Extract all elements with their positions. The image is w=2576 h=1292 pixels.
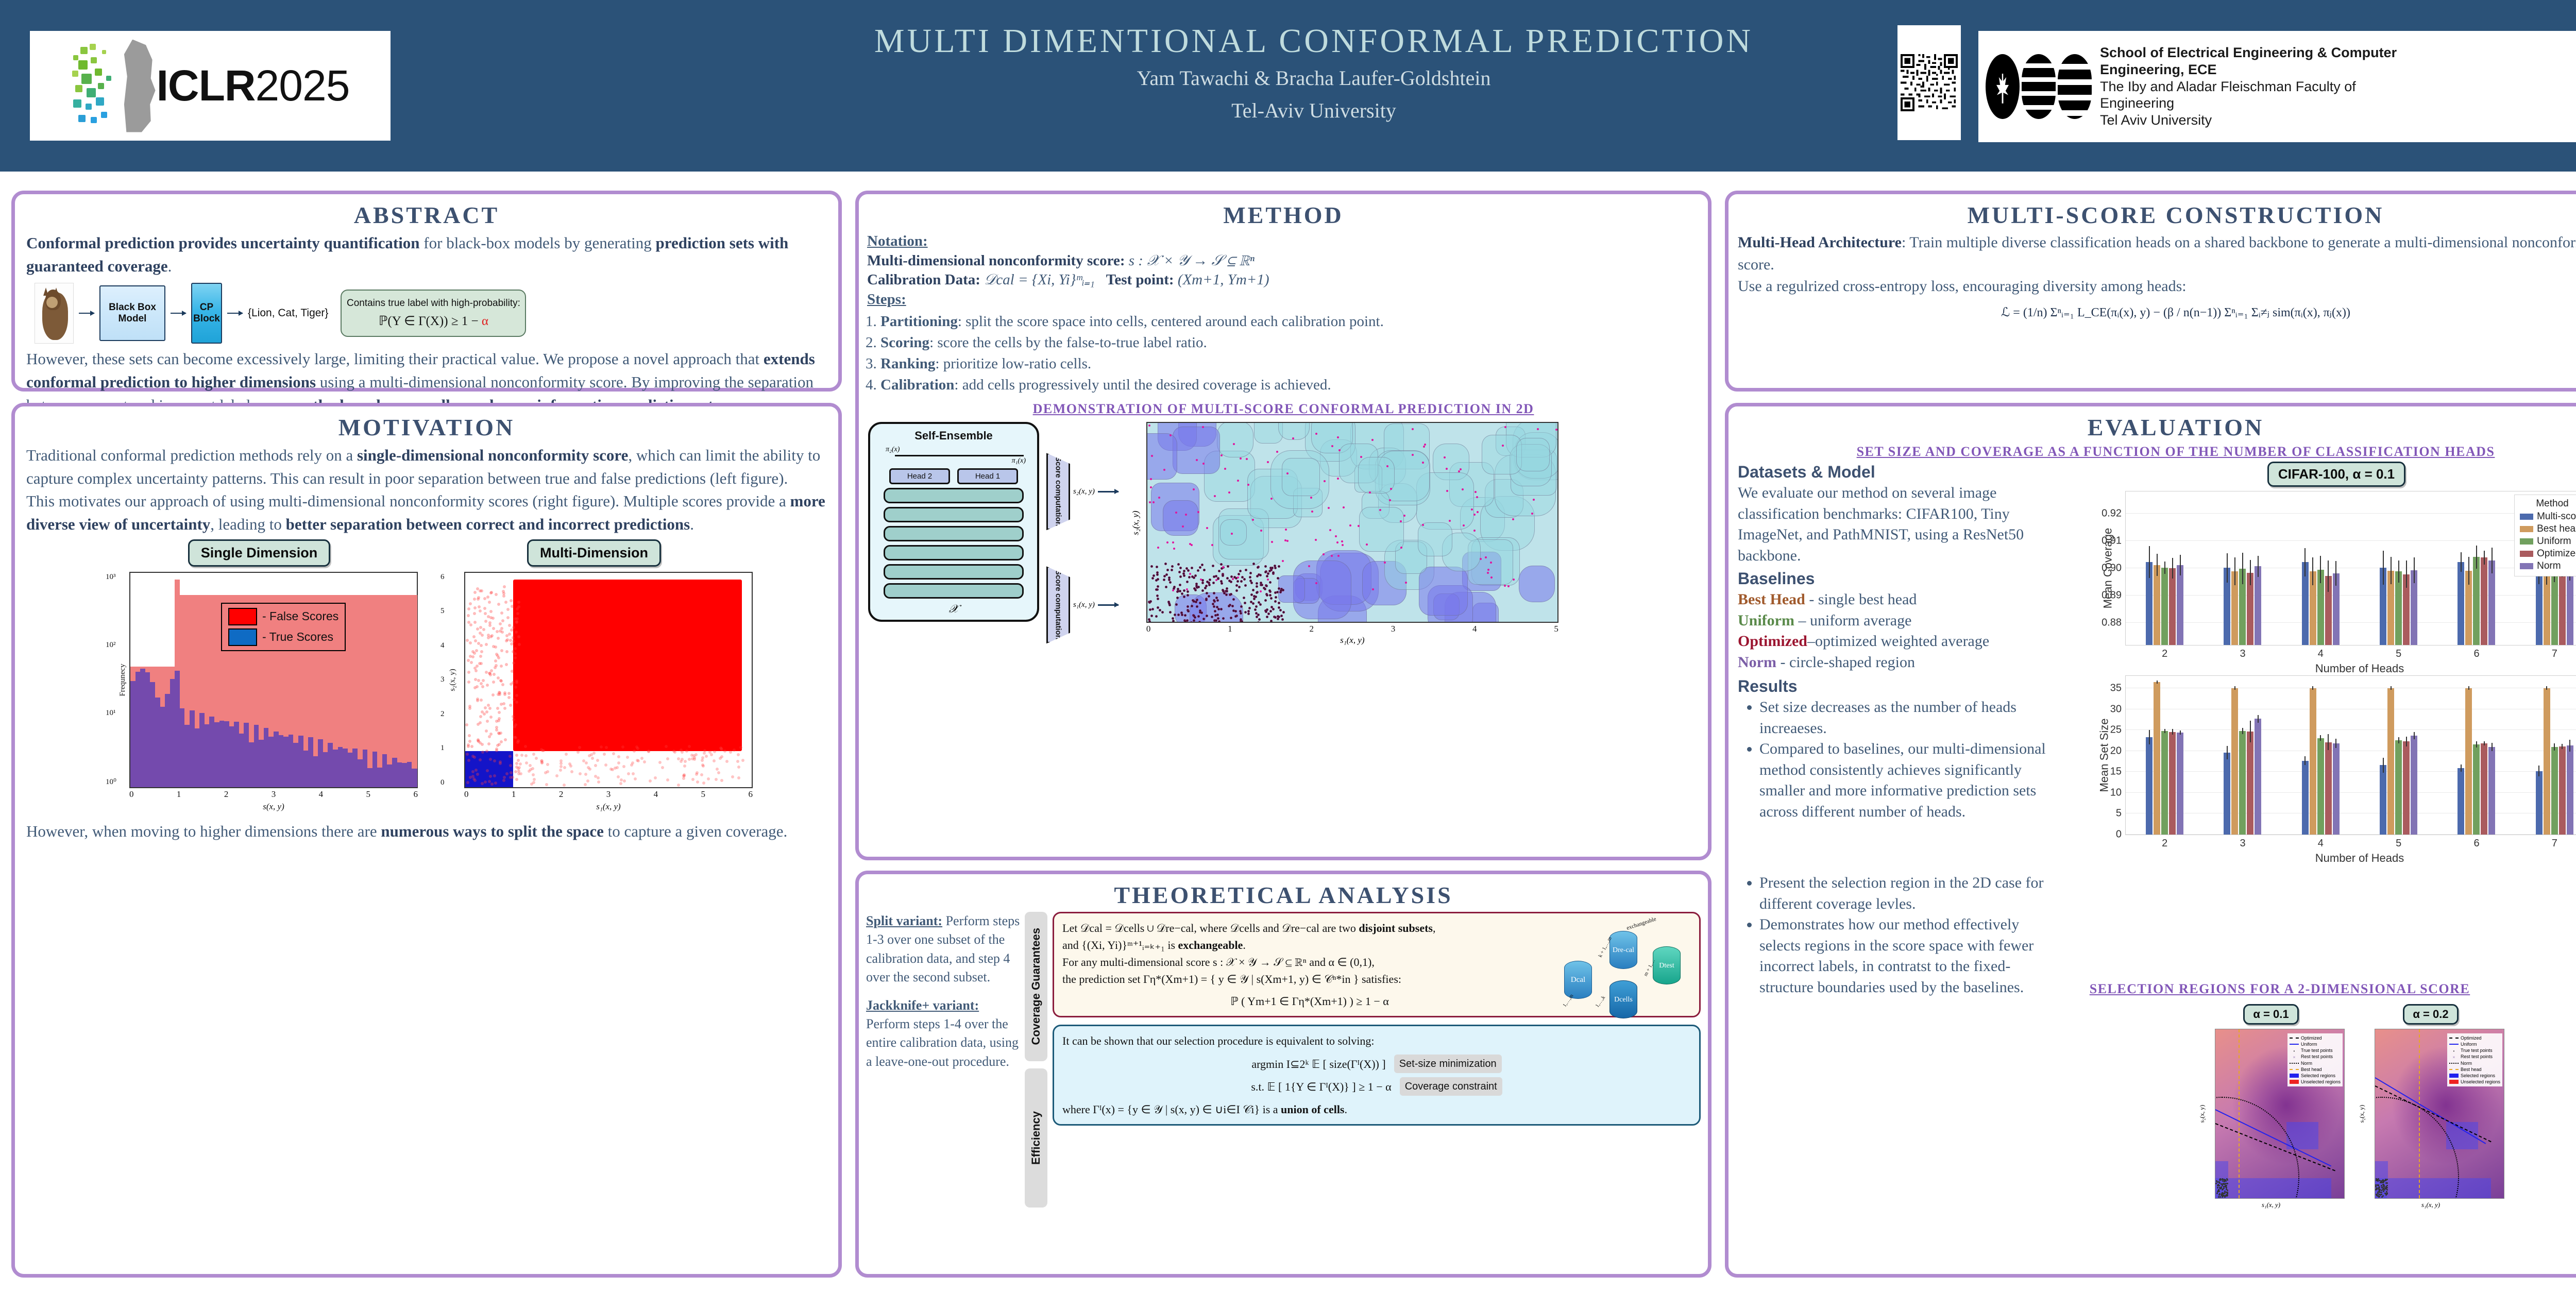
loss-formula: ℒ = (1/n) Σⁿᵢ₌₁ L_CE(πᵢ(x), y) − (β / n(… bbox=[1728, 305, 2576, 320]
scatter-point bbox=[495, 593, 498, 596]
scatter-point bbox=[677, 784, 680, 787]
legend-label-false: - False Scores bbox=[262, 609, 338, 623]
scatter-point bbox=[489, 733, 493, 736]
calibration-point bbox=[1173, 586, 1176, 588]
dataset-badge: CIFAR-100, α = 0.1 bbox=[2267, 462, 2405, 487]
backbone-layer bbox=[884, 488, 1024, 503]
scatter-point bbox=[611, 768, 614, 771]
calibration-point bbox=[1151, 608, 1154, 610]
scatter-point bbox=[701, 763, 704, 767]
scatter-point bbox=[587, 766, 590, 769]
test-point bbox=[1157, 547, 1159, 549]
test-point bbox=[1343, 506, 1345, 508]
calibration-point bbox=[1274, 600, 1277, 603]
scatter-point bbox=[741, 759, 744, 762]
calibration-point bbox=[1150, 565, 1153, 568]
calibration-point bbox=[1172, 620, 1175, 622]
error-bar bbox=[2328, 734, 2329, 750]
calibration-point bbox=[1280, 615, 1283, 617]
scatter-point bbox=[594, 764, 597, 767]
calibration-point bbox=[1156, 573, 1159, 576]
scatter-point bbox=[633, 750, 636, 753]
scatter-point bbox=[479, 609, 482, 613]
scatter-point bbox=[725, 760, 728, 763]
calibration-point bbox=[1240, 612, 1242, 615]
error-bar bbox=[2227, 746, 2228, 759]
x-axis-tick: 7 bbox=[2552, 838, 2557, 849]
legend-swatch bbox=[2449, 1069, 2459, 1070]
chart-legend: MethodMulti-scoreBest headUniformOptimiz… bbox=[2514, 495, 2576, 576]
bar bbox=[2247, 732, 2253, 835]
bar bbox=[2161, 568, 2168, 645]
efficiency-box: It can be shown that our selection proce… bbox=[1053, 1025, 1701, 1126]
calibration-point bbox=[1267, 572, 1269, 575]
calibration-point bbox=[1259, 574, 1262, 576]
scatter-point bbox=[467, 614, 470, 617]
calibration-point bbox=[1276, 591, 1279, 593]
calibration-point bbox=[1159, 609, 1161, 611]
test-point bbox=[1186, 588, 1188, 590]
input-label: 𝒳 bbox=[876, 602, 1031, 616]
calibration-point bbox=[1202, 618, 1205, 620]
sy2: 2 bbox=[440, 710, 445, 719]
error-bar bbox=[2484, 741, 2485, 745]
scatter-point bbox=[515, 762, 518, 765]
scatter-x-ticks: 0 1 2 3 4 5 6 bbox=[464, 789, 753, 800]
scatter-point bbox=[477, 596, 480, 599]
calibration-point bbox=[1226, 587, 1228, 590]
scatter-point bbox=[702, 781, 705, 785]
hist-bar-true bbox=[412, 769, 417, 787]
test-point bbox=[1148, 424, 1150, 427]
score-label: Multi-dimensional nonconformity score: bbox=[867, 252, 1125, 269]
bar bbox=[2567, 567, 2573, 645]
arrow-icon-s1 bbox=[1098, 604, 1118, 606]
hx2: 2 bbox=[224, 789, 229, 800]
scatter-point bbox=[488, 601, 491, 604]
bar bbox=[2302, 761, 2309, 835]
scatter-point bbox=[570, 770, 573, 773]
scatter-point bbox=[510, 642, 513, 645]
legend-item: Best head bbox=[2449, 1066, 2500, 1073]
baseline-2-name: Optimized bbox=[1738, 633, 1807, 650]
baseline-optimized: Optimized–optimized weighted average bbox=[1738, 631, 2052, 652]
legend-label: Rest test points bbox=[2461, 1053, 2493, 1060]
scatter-point bbox=[713, 750, 716, 753]
scatter-point bbox=[565, 753, 568, 756]
bar bbox=[2465, 571, 2472, 645]
legend-item: Unselected regions bbox=[2290, 1079, 2341, 1085]
calibration-point bbox=[1220, 563, 1223, 566]
legend-swatch bbox=[2290, 1074, 2299, 1078]
sy6: 6 bbox=[440, 573, 445, 582]
cov-l1-b: disjoint subsets bbox=[1359, 922, 1433, 934]
scatter-point bbox=[514, 770, 517, 773]
split-variant: Split variant: Perform steps 1-3 over on… bbox=[866, 912, 1021, 987]
test-point bbox=[1276, 451, 1278, 453]
scatter-point bbox=[468, 740, 471, 743]
scatter-point bbox=[512, 718, 515, 721]
error-bar bbox=[2569, 740, 2570, 752]
bar bbox=[2255, 719, 2261, 835]
x-axis-tick: 6 bbox=[2473, 648, 2479, 660]
scatter-point bbox=[484, 706, 487, 709]
scatter-point bbox=[555, 774, 558, 777]
calibration-point bbox=[1278, 565, 1280, 568]
scatter-point bbox=[490, 669, 493, 672]
cov-line-1: Let 𝒟cal = 𝒟cells ∪ 𝒟re−cal, where 𝒟cell… bbox=[1062, 920, 1557, 937]
x-axis-tick: 4 bbox=[2318, 838, 2324, 849]
bar bbox=[2567, 745, 2573, 835]
calibration-point bbox=[1256, 591, 1258, 594]
eff-line-2: argmin I⊆2ᵏ 𝔼 [ size(Γᴵ(X)) ] bbox=[1251, 1056, 1385, 1073]
calibration-point bbox=[1256, 582, 1258, 585]
legend-swatch: × bbox=[2290, 1055, 2299, 1058]
selection-plot-2: OptimizedUniform•True test points×Rest t… bbox=[2375, 1029, 2504, 1199]
arrow-icon-3 bbox=[227, 313, 243, 314]
test-math: (Xm+1, Ym+1) bbox=[1178, 271, 1269, 288]
tau-line-2: Engineering, ECE bbox=[2100, 61, 2397, 78]
results-heading: Results bbox=[1738, 677, 2052, 696]
affiliation: Tel-Aviv University bbox=[721, 98, 1906, 123]
scatter-point bbox=[563, 784, 566, 787]
voronoi-cell bbox=[1163, 500, 1198, 536]
selection-plot-1: OptimizedUniform•True test points×Rest t… bbox=[2215, 1029, 2345, 1199]
test-point bbox=[1412, 428, 1414, 430]
arrow-icon-1 bbox=[79, 313, 94, 314]
scatter-point bbox=[469, 623, 472, 626]
error-bar bbox=[2492, 548, 2493, 573]
legend-item: Norm bbox=[2449, 1060, 2500, 1066]
calibration-point bbox=[1226, 577, 1229, 580]
scatter-point bbox=[500, 649, 503, 652]
error-bar bbox=[2180, 730, 2181, 735]
scatter-point bbox=[484, 780, 487, 784]
step-4-name: Calibration bbox=[880, 377, 954, 393]
calibration-point bbox=[1254, 608, 1257, 611]
scatter-point bbox=[517, 759, 520, 762]
y-axis-tick: 20 bbox=[2110, 745, 2122, 757]
vx2: 2 bbox=[1309, 624, 1314, 634]
error-bar bbox=[2172, 558, 2173, 579]
bar bbox=[2411, 570, 2417, 645]
method-step-4: Calibration: add cells progressively unt… bbox=[880, 375, 1708, 395]
scatter-point bbox=[503, 693, 506, 696]
legend-swatch bbox=[2449, 1080, 2459, 1084]
bar bbox=[2551, 747, 2558, 835]
test-point bbox=[1335, 535, 1337, 537]
scatter-point bbox=[603, 753, 606, 756]
scatter-point bbox=[477, 679, 480, 682]
legend-label: Norm bbox=[2537, 560, 2561, 572]
bar bbox=[2161, 731, 2168, 835]
mot-p2-a: This motivates our approach of using mul… bbox=[26, 492, 790, 510]
multi-dimension-figure: Multi-Dimension 6 5 4 3 2 1 0 s₂(x, y) 0… bbox=[435, 539, 753, 812]
step-3-text: : prioritize low-ratio cells. bbox=[935, 355, 1091, 372]
scatter-point bbox=[546, 770, 549, 773]
qr-code-icon[interactable] bbox=[1897, 25, 1961, 140]
scatter-point bbox=[617, 761, 620, 764]
x-axis-tick: 5 bbox=[2396, 648, 2401, 660]
calibration-point bbox=[1175, 603, 1178, 606]
bar-group bbox=[2302, 676, 2340, 835]
coverage-bar-chart: 0.880.890.900.910.92234567MethodMulti-sc… bbox=[2125, 491, 2576, 645]
error-bar bbox=[2383, 758, 2384, 773]
set-size-minimization-tag: Set-size minimization bbox=[1394, 1055, 1502, 1073]
calibration-point bbox=[1178, 571, 1181, 573]
scatter-point bbox=[467, 671, 470, 674]
error-bar bbox=[2227, 553, 2228, 583]
eff-l4-c: . bbox=[1345, 1103, 1348, 1116]
voronoi-cell bbox=[1418, 522, 1452, 557]
theory-title: THEORETICAL ANALYSIS bbox=[859, 881, 1708, 909]
test-point bbox=[1214, 495, 1216, 497]
test-point bbox=[1531, 513, 1533, 515]
sx4: 4 bbox=[654, 789, 658, 800]
error-bar bbox=[2468, 686, 2469, 689]
cov-line-2: and {(Xi, Yi)}ᵐ⁺¹ᵢ₌ₖ₊₁ is exchangeable. bbox=[1062, 937, 1557, 954]
calibration-point bbox=[1226, 590, 1228, 592]
bar bbox=[2239, 731, 2246, 835]
scatter-false-cluster bbox=[513, 580, 742, 751]
scatter-point bbox=[481, 634, 484, 637]
scatter-point bbox=[579, 772, 582, 775]
scatter-point bbox=[480, 650, 483, 653]
bar bbox=[2380, 765, 2386, 835]
calibration-point bbox=[1257, 621, 1260, 623]
calibration-point bbox=[1166, 569, 1169, 571]
calibration-point bbox=[1279, 609, 1282, 611]
selection-region-figures: α = 0.1 s₂(x, y) OptimizedUniform•True t… bbox=[2197, 1004, 2504, 1209]
vx3: 3 bbox=[1391, 624, 1396, 634]
bar bbox=[2488, 560, 2495, 645]
voronoi-x-ticks: 0 1 2 3 4 5 bbox=[1146, 624, 1558, 634]
score-comp-label-1: Score computation bbox=[1054, 570, 1063, 640]
tau-logo-text: School of Electrical Engineering & Compu… bbox=[2100, 44, 2397, 129]
calibration-point bbox=[1230, 593, 1232, 596]
error-bar bbox=[2157, 554, 2158, 576]
cov-l2-a: and {(Xi, Yi)}ᵐ⁺¹ᵢ₌ₖ₊₁ is bbox=[1062, 939, 1178, 951]
scatter-point bbox=[514, 723, 517, 726]
calibration-point bbox=[1174, 614, 1176, 616]
baseline-0-desc: - single best head bbox=[1805, 591, 1917, 608]
scatter-point bbox=[620, 778, 623, 781]
scatter-point bbox=[560, 759, 563, 762]
bar-group bbox=[2458, 676, 2495, 835]
bar-group bbox=[2302, 491, 2340, 645]
legend-label: True test points bbox=[2461, 1047, 2493, 1053]
scatter-point bbox=[546, 763, 549, 766]
datasets-text: We evaluate our method on several image … bbox=[1738, 483, 2052, 566]
calibration-point bbox=[1193, 615, 1195, 617]
selection-bullet: Present the selection region in the 2D c… bbox=[1759, 873, 2052, 914]
baseline-0-name: Best Head bbox=[1738, 591, 1805, 608]
theory-variants: Split variant: Perform steps 1-3 over on… bbox=[866, 912, 1021, 1208]
legend-item: Optimized bbox=[2449, 1035, 2500, 1041]
bar bbox=[2224, 568, 2230, 645]
calibration-point bbox=[1179, 567, 1182, 569]
cyl-exchangeable-label: exchangeable bbox=[1625, 915, 1657, 932]
y-axis-tick: 30 bbox=[2110, 703, 2122, 715]
calibration-point bbox=[1272, 571, 1275, 574]
error-bar bbox=[2242, 728, 2243, 735]
calibration-point bbox=[1156, 594, 1159, 597]
calibration-point bbox=[1249, 576, 1251, 579]
test-point bbox=[1311, 511, 1313, 513]
calibration-point bbox=[1278, 602, 1280, 604]
cat-image bbox=[35, 283, 74, 344]
calibration-point bbox=[1247, 613, 1250, 615]
voronoi-plot bbox=[1146, 422, 1558, 623]
error-bar bbox=[2320, 556, 2321, 583]
bar bbox=[2411, 736, 2417, 835]
scatter-point bbox=[713, 759, 716, 762]
legend-item: Norm bbox=[2520, 560, 2576, 572]
calibration-point bbox=[1255, 605, 1258, 608]
test-point bbox=[1282, 560, 1284, 562]
vx5: 5 bbox=[1554, 624, 1558, 634]
legend-item: Selected regions bbox=[2290, 1073, 2341, 1079]
calibration-point bbox=[1171, 565, 1174, 568]
calibration-point bbox=[1180, 611, 1183, 614]
x-axis-tick: 2 bbox=[2162, 648, 2167, 660]
results-list: Set size decreases as the number of head… bbox=[1759, 697, 2052, 822]
split-variant-label: Split variant: bbox=[866, 913, 942, 928]
scatter-point bbox=[473, 621, 477, 624]
poster-header: ICLR2025 MULTI DIMENTIONAL CONFORMAL PRE… bbox=[0, 0, 2576, 172]
coverage-guarantees-tab: Coverage Guarantees bbox=[1025, 912, 1047, 1061]
scatter-point bbox=[520, 754, 523, 757]
sy1: 1 bbox=[440, 744, 445, 753]
hx0: 0 bbox=[129, 789, 134, 800]
step-1-name: Partitioning bbox=[880, 313, 958, 330]
test-point bbox=[1444, 456, 1446, 458]
cyl-drecal: Dre-cal bbox=[1609, 931, 1637, 969]
selection-legend: OptimizedUniform•True test points×Rest t… bbox=[2447, 1033, 2502, 1086]
jackknife-variant-text: Perform steps 1-4 over the entire calibr… bbox=[866, 1016, 1019, 1069]
bar bbox=[2544, 688, 2550, 835]
calibration-point bbox=[1176, 597, 1179, 599]
scatter-point bbox=[480, 644, 483, 647]
error-bar bbox=[2149, 730, 2150, 744]
iclr-logo-text: ICLR2025 bbox=[157, 61, 350, 111]
scatter-point bbox=[488, 707, 492, 710]
tau-line-5: Tel Aviv University bbox=[2100, 112, 2397, 129]
hist-bar-false bbox=[412, 595, 417, 787]
error-bar bbox=[2258, 556, 2259, 576]
voronoi-ylabel: s₂(x, y) bbox=[1131, 511, 1141, 535]
callout-alpha: α bbox=[482, 314, 488, 328]
scatter-point bbox=[584, 783, 587, 786]
scatter-point bbox=[529, 764, 532, 767]
baseline-2-desc: –optimized weighted average bbox=[1807, 633, 1989, 650]
pi2-label: π₂(x) bbox=[886, 446, 900, 454]
abstract-paragraph-1: Conformal prediction provides uncertaint… bbox=[15, 232, 838, 278]
error-bar bbox=[2250, 721, 2251, 742]
error-bar bbox=[2476, 546, 2477, 569]
scatter-point bbox=[612, 752, 615, 755]
tau-line-4: Engineering bbox=[2100, 95, 2397, 112]
scatter-point bbox=[596, 759, 599, 762]
scatter-point bbox=[693, 758, 696, 761]
scatter-point bbox=[471, 655, 474, 658]
legend-swatch: × bbox=[2449, 1055, 2459, 1058]
scatter-point bbox=[467, 607, 470, 610]
legend-swatch bbox=[2449, 1038, 2459, 1039]
test-point bbox=[1412, 454, 1414, 456]
scatter-point bbox=[502, 590, 505, 593]
scatter-point bbox=[517, 601, 520, 604]
scatter-point bbox=[559, 769, 562, 772]
sel1-xlabel: s₁(x, y) bbox=[2262, 1201, 2280, 1209]
pi1-label: π₁(x) bbox=[1012, 457, 1026, 465]
scatter-point bbox=[729, 751, 732, 754]
scatter-point bbox=[506, 616, 510, 619]
bar-group bbox=[2380, 676, 2417, 835]
scatter-point bbox=[472, 635, 476, 638]
scatter-point bbox=[485, 729, 488, 733]
coverage-tab-label: Coverage Guarantees bbox=[1029, 928, 1043, 1045]
scatter-point bbox=[739, 746, 742, 749]
calibration-point bbox=[1227, 565, 1229, 568]
calibration-point bbox=[1153, 574, 1155, 577]
error-bar bbox=[2335, 739, 2336, 748]
scatter-point bbox=[592, 752, 596, 755]
sy3: 3 bbox=[440, 675, 445, 684]
scatter-xlabel: s₁(x, y) bbox=[596, 802, 620, 812]
setsize-ylabel: Mean Set Size bbox=[2098, 718, 2111, 792]
bar bbox=[2481, 743, 2487, 835]
error-bar bbox=[2414, 557, 2415, 583]
calibration-point bbox=[1235, 584, 1238, 587]
scatter-point bbox=[578, 746, 581, 749]
calibration-point bbox=[1218, 570, 1221, 572]
calib-label: Calibration Data: bbox=[867, 271, 980, 288]
eff-l4-b: union of cells bbox=[1281, 1103, 1344, 1116]
calibration-point bbox=[1188, 576, 1191, 579]
scatter-point bbox=[479, 655, 482, 658]
cov-l1-c: , bbox=[1433, 922, 1436, 934]
calibration-point bbox=[1265, 585, 1268, 587]
test-point bbox=[1172, 541, 1174, 543]
legend-swatch-false bbox=[228, 608, 257, 625]
bar bbox=[2325, 742, 2332, 835]
test-point bbox=[1342, 544, 1344, 546]
bar bbox=[2395, 571, 2402, 645]
evaluation-columns: Datasets & Model We evaluate our method … bbox=[1728, 462, 2576, 998]
bar bbox=[2473, 744, 2480, 835]
test-point bbox=[1170, 434, 1172, 436]
scatter-point bbox=[498, 711, 501, 714]
scatter-point bbox=[617, 775, 620, 778]
y-axis-tick: 15 bbox=[2110, 766, 2122, 778]
scatter-point bbox=[470, 661, 473, 664]
tau-line-3: The Iby and Aladar Fleischman Faculty of bbox=[2100, 78, 2397, 95]
calibration-point bbox=[1169, 611, 1172, 614]
notation-label: Notation: bbox=[867, 232, 928, 251]
calibration-point bbox=[1199, 566, 1201, 569]
legend-label: Selected regions bbox=[2461, 1073, 2495, 1079]
multiscore-paragraph-2: Use a regulrized cross-entropy loss, enc… bbox=[1728, 276, 2576, 298]
scatter-point bbox=[632, 772, 635, 775]
scatter-point bbox=[622, 765, 625, 768]
calibration-point bbox=[1163, 579, 1165, 581]
scatter-point bbox=[515, 778, 518, 781]
mot-p1-bold: single-dimensional nonconformity score bbox=[357, 446, 628, 464]
calibration-point bbox=[1157, 585, 1159, 588]
step-3-name: Ranking bbox=[880, 355, 935, 372]
calibration-point bbox=[1247, 610, 1250, 613]
